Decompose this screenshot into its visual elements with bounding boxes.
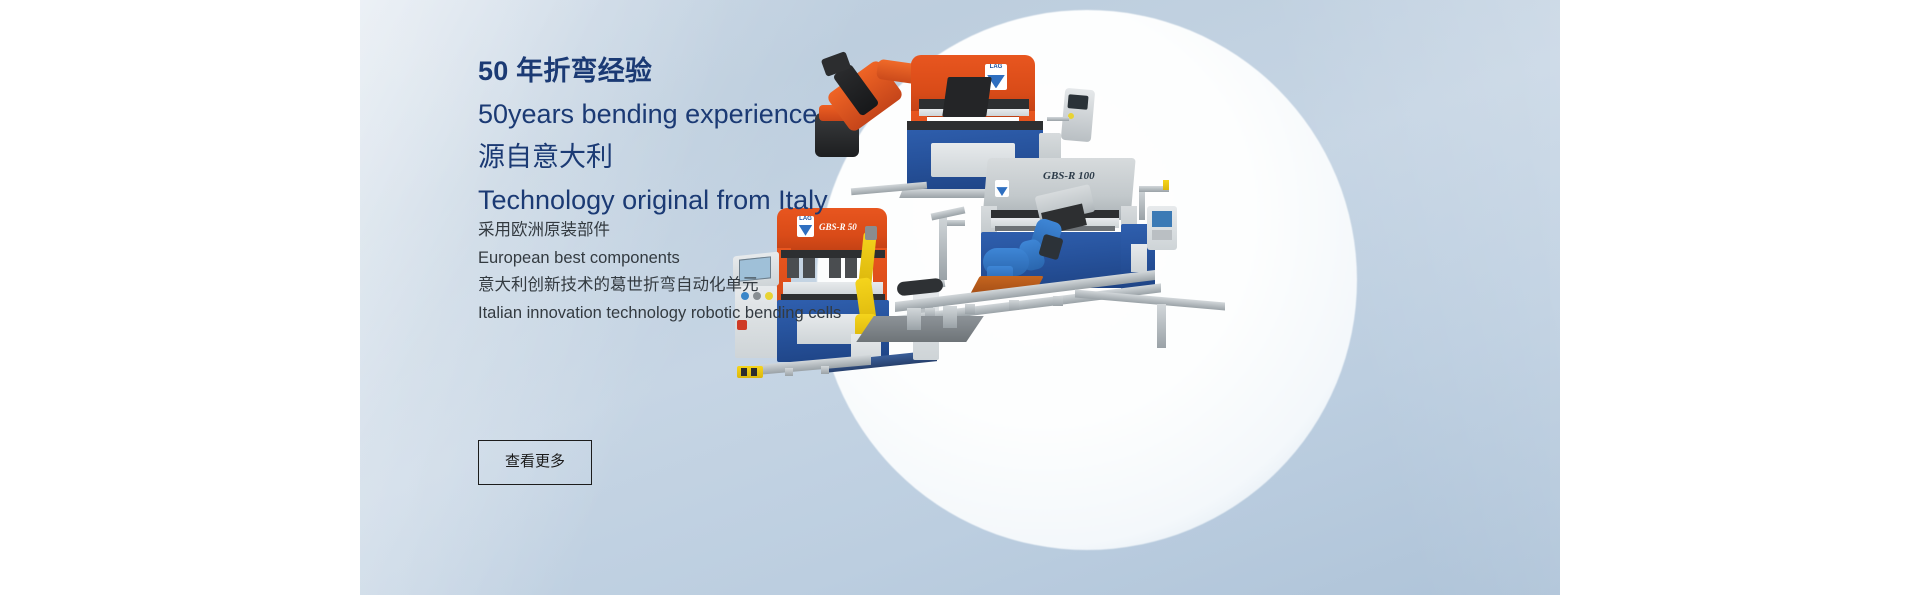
subtext-line-1: 采用欧洲原装部件 [478,222,1098,239]
headline-line-1: 50 年折弯经验 [478,58,1098,85]
headline-line-2: 50years bending experience [478,101,1098,128]
subtext-line-3: 意大利创新技术的葛世折弯自动化单元 [478,277,1098,294]
hero-banner: LAG [360,0,1560,595]
banner-stage: LAG [0,0,1920,595]
subtext-line-2: European best components [478,250,1098,267]
headline-block: 50 年折弯经验 50years bending experience 源自意大… [478,58,1098,214]
subtext-line-4: Italian innovation technology robotic be… [478,305,1098,322]
headline-line-3: 源自意大利 [478,144,1098,171]
view-more-button[interactable]: 查看更多 [478,440,592,485]
headline-line-4: Technology original from Italy [478,187,1098,214]
subtext-block: 采用欧洲原装部件 European best components 意大利创新技… [478,222,1098,321]
